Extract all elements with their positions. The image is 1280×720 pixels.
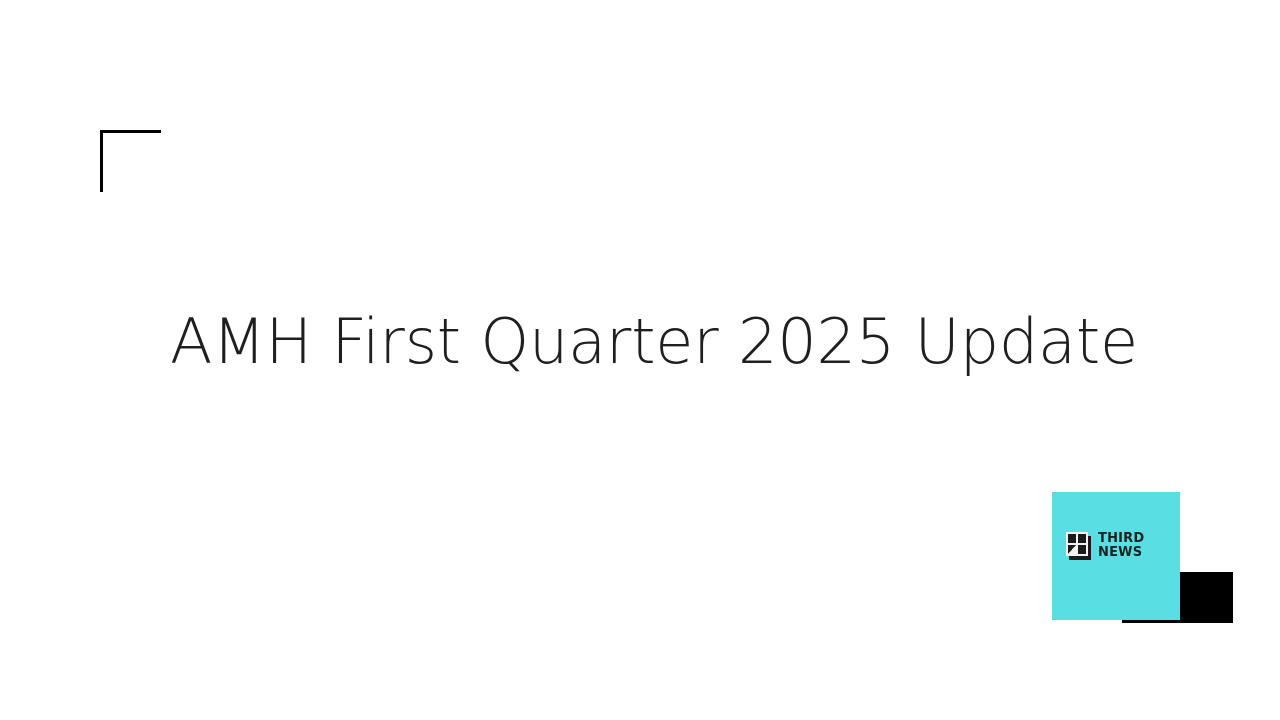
corner-bracket-decoration: [100, 130, 161, 192]
newspaper-grid-icon: [1066, 532, 1092, 560]
presentation-slide: AMH First Quarter 2025 Update THIRD NEWS: [0, 0, 1280, 720]
grid-cell-bottom-left: [1068, 545, 1076, 554]
grid-cell-top-right: [1078, 534, 1086, 543]
logo-wordmark-line-1: THIRD: [1098, 531, 1144, 546]
page-title: AMH First Quarter 2025 Update: [170, 303, 1070, 381]
brand-logo: THIRD NEWS: [1052, 492, 1180, 620]
logo-wordmark: THIRD NEWS: [1098, 532, 1144, 560]
grid-cell-bottom-right: [1078, 545, 1086, 554]
logo-lockup: THIRD NEWS: [1066, 532, 1144, 560]
newspaper-grid-icon-cells: [1068, 534, 1086, 554]
logo-wordmark-line-2: NEWS: [1098, 545, 1142, 560]
grid-cell-top-left: [1068, 534, 1076, 543]
